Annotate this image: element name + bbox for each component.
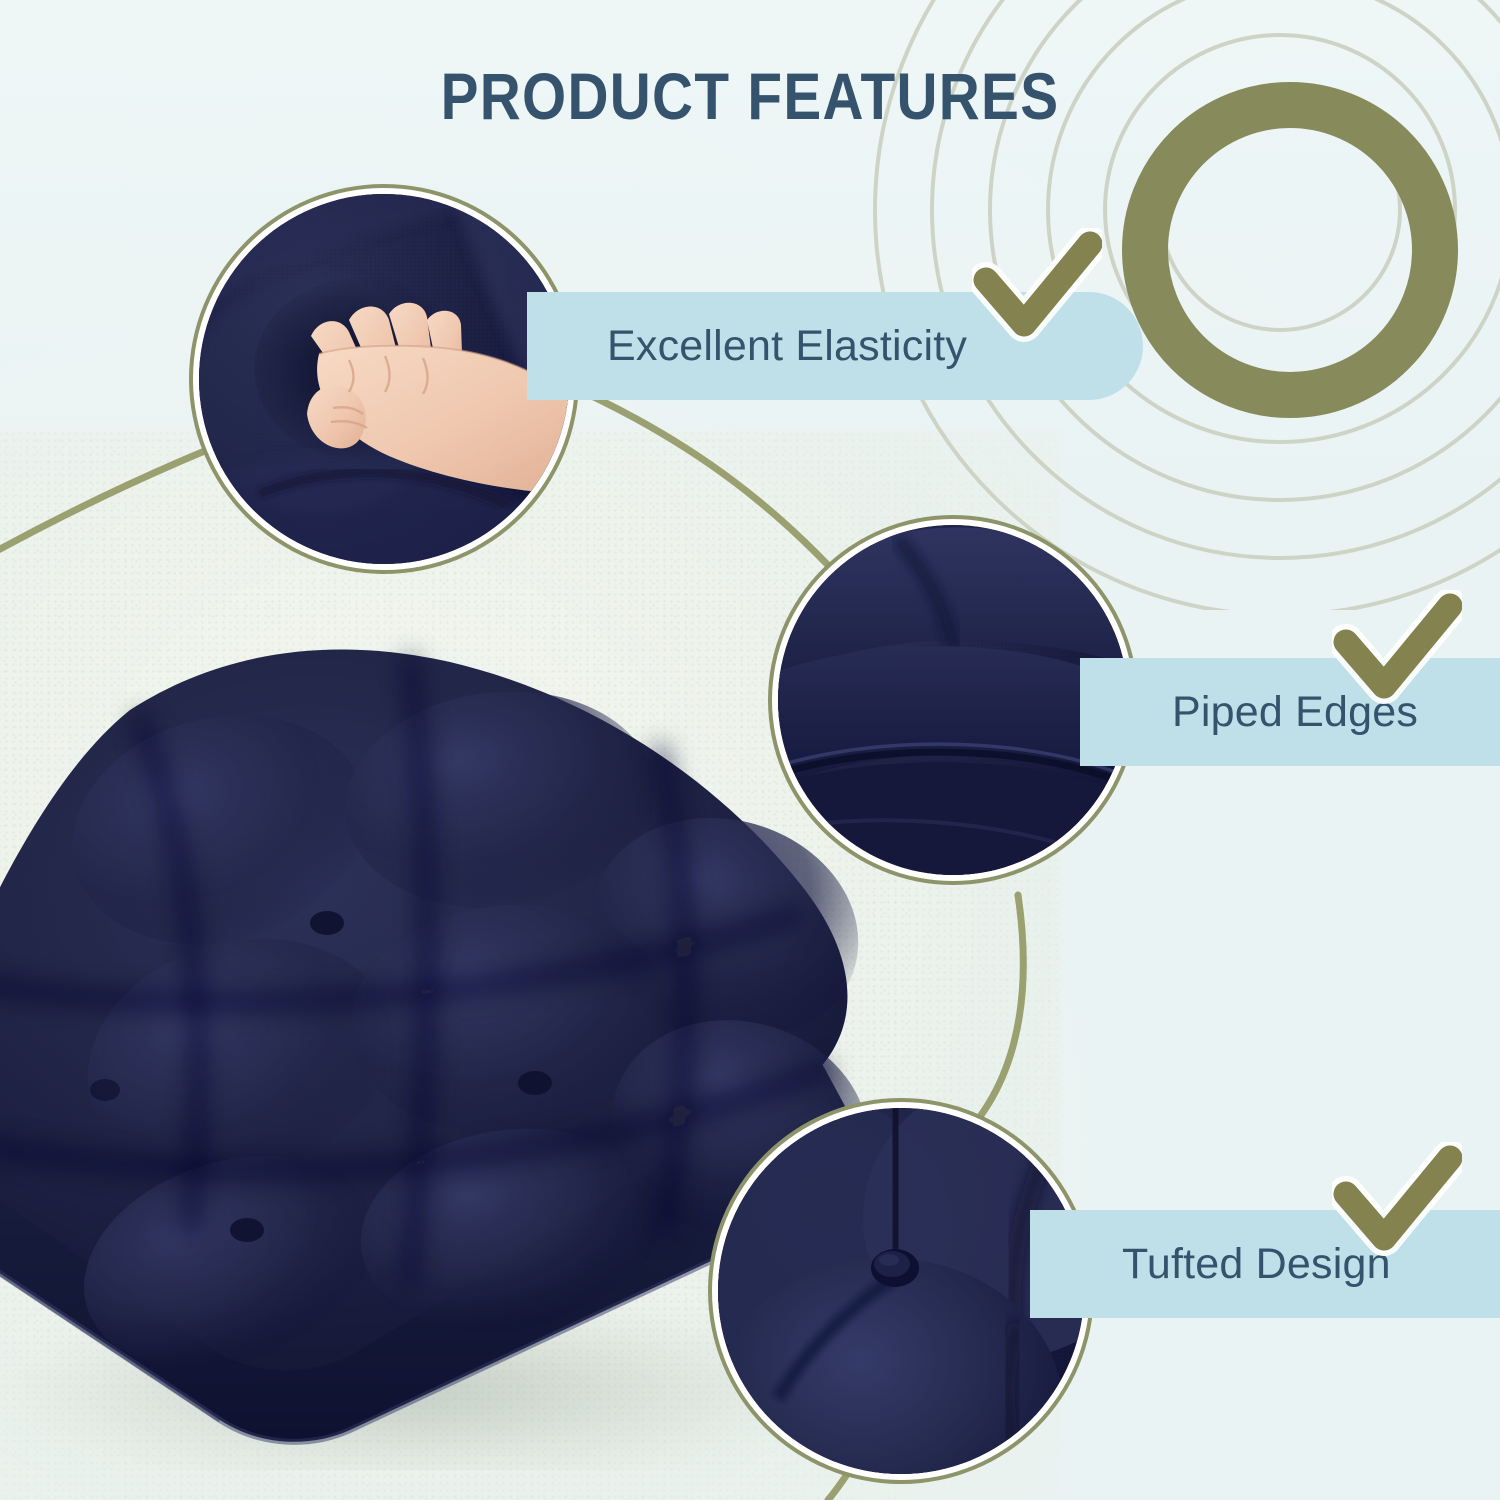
product-features-infographic: PRODUCT FEATURES bbox=[0, 0, 1500, 1500]
feature-photo-excellent-elasticity bbox=[193, 188, 575, 570]
check-icon bbox=[1332, 1142, 1462, 1262]
check-icon bbox=[972, 228, 1102, 348]
page-title: PRODUCT FEATURES bbox=[105, 58, 1395, 134]
tufting-button bbox=[871, 1249, 919, 1287]
feature-label-excellent-elasticity: Excellent Elasticity bbox=[607, 322, 967, 371]
piped-edge-illustration bbox=[778, 525, 1128, 875]
check-icon bbox=[1332, 590, 1462, 710]
hand-pressing-cushion-illustration bbox=[199, 194, 569, 564]
